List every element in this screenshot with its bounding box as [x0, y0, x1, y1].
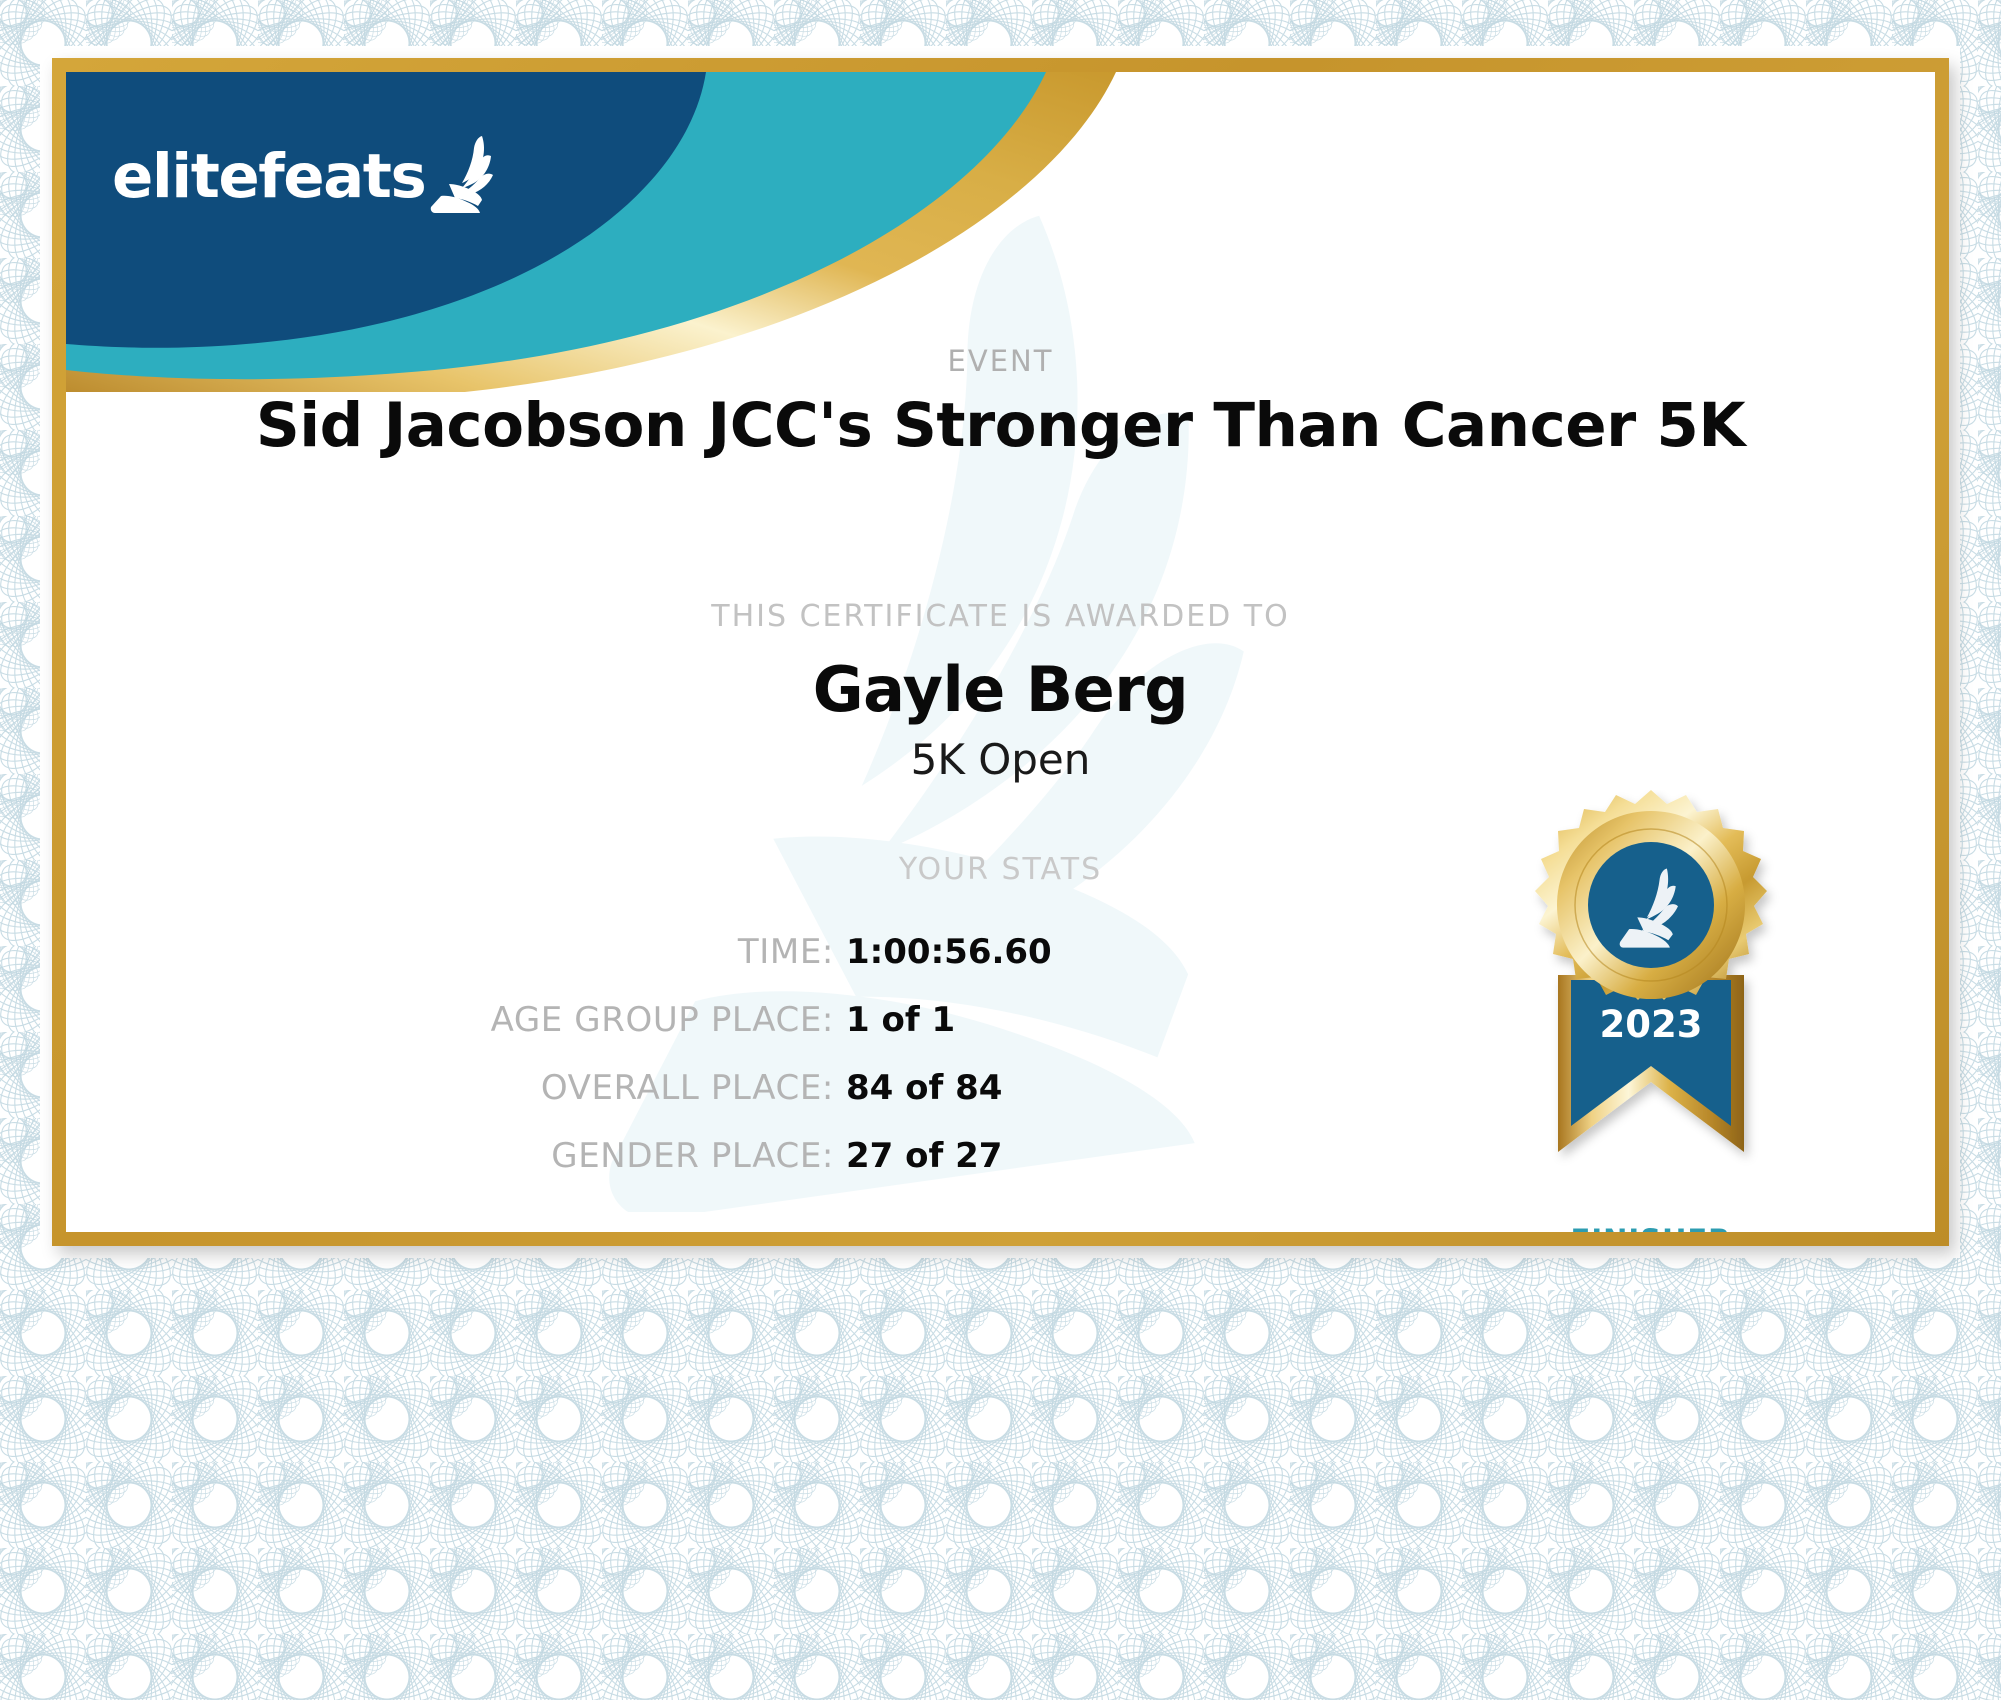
brand-wordmark: elitefeats [112, 146, 425, 207]
stat-value: 1 of 1 [846, 1000, 1076, 1040]
gold-frame-border: elitefeats [52, 58, 1949, 1246]
winged-foot-icon [427, 134, 505, 218]
recipient-division: 5K Open [66, 735, 1935, 784]
stat-row-overall-place: OVERALL PLACE: 84 of 84 [336, 1068, 1076, 1114]
stat-value: 84 of 84 [846, 1068, 1076, 1108]
stats-table: TIME: 1:00:56.60 AGE GROUP PLACE: 1 of 1… [336, 932, 1076, 1204]
certificate-page: elitefeats [0, 0, 2001, 1700]
stat-row-gender-place: GENDER PLACE: 27 of 27 [336, 1136, 1076, 1182]
finisher-seal: 2023 FINISHER CERTIFICATE [1496, 790, 1806, 1232]
stat-label: TIME: [738, 932, 834, 972]
certificate-content: EVENT Sid Jacobson JCC's Stronger Than C… [66, 72, 1935, 1232]
stat-label: GENDER PLACE: [551, 1136, 834, 1176]
seal-caption: FINISHER CERTIFICATE [1496, 1224, 1806, 1232]
recipient-name: Gayle Berg [66, 653, 1935, 726]
stat-label: AGE GROUP PLACE: [491, 1000, 834, 1040]
seal-caption-line1: FINISHER [1496, 1224, 1806, 1232]
awarded-to-label: THIS CERTIFICATE IS AWARDED TO [66, 599, 1935, 634]
stat-label: OVERALL PLACE: [541, 1068, 834, 1108]
event-label: EVENT [66, 344, 1935, 378]
stat-value: 27 of 27 [846, 1136, 1076, 1176]
certificate-body: elitefeats [66, 72, 1935, 1232]
event-title: Sid Jacobson JCC's Stronger Than Cancer … [66, 390, 1935, 461]
seal-year-text: 2023 [1600, 1003, 1703, 1046]
stat-row-time: TIME: 1:00:56.60 [336, 932, 1076, 978]
seal-medal-graphic: 2023 [1496, 790, 1806, 1215]
stat-value: 1:00:56.60 [846, 932, 1076, 972]
brand-logo: elitefeats [112, 134, 505, 218]
stat-row-age-group-place: AGE GROUP PLACE: 1 of 1 [336, 1000, 1076, 1046]
